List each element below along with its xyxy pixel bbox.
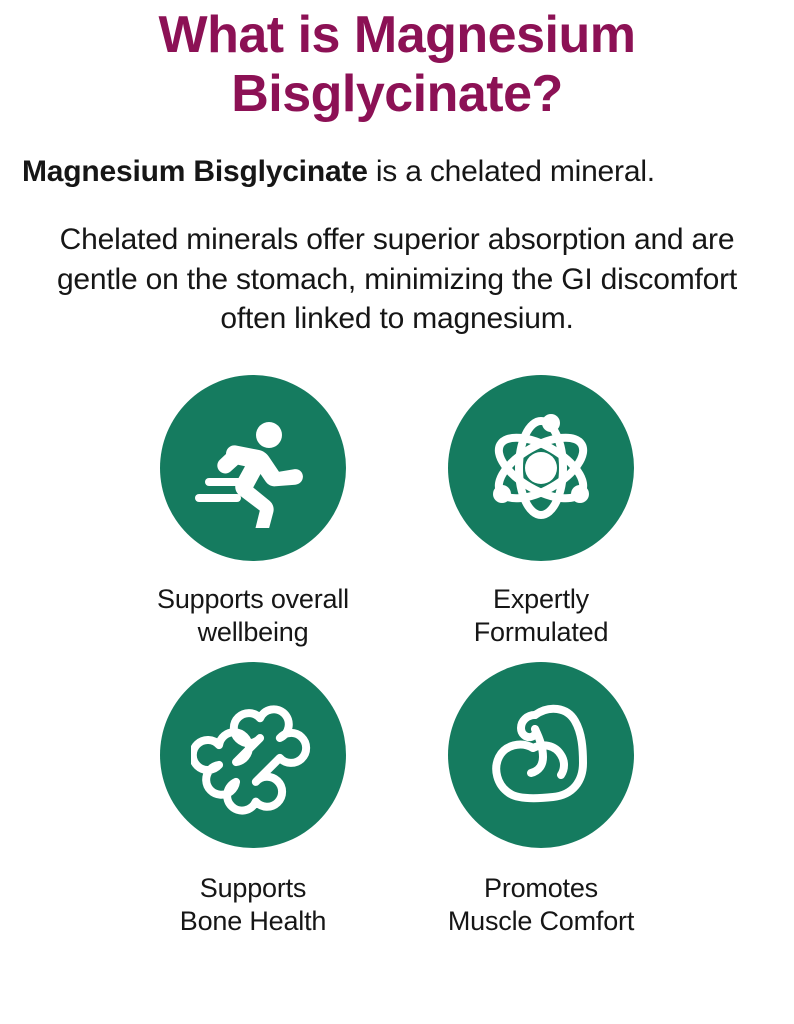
benefit-label: Supports overall wellbeing <box>157 561 349 650</box>
benefit-item-expertly-formulated: Expertly Formulated <box>407 375 675 650</box>
atom-icon <box>479 406 603 530</box>
benefit-item-supports-bone-health: Supports Bone Health <box>119 662 387 939</box>
page-title-line2: Bisglycinate? <box>231 65 563 123</box>
page-title-line1: What is Magnesium <box>159 6 636 64</box>
benefit-icon-badge <box>160 662 346 848</box>
benefit-icon-badge <box>448 375 634 561</box>
benefit-icon-badge <box>448 662 634 848</box>
product-info-page: What is MagnesiumBisglycinate? Magnesium… <box>0 0 794 1024</box>
benefit-item-supports-overall-wellbeing: Supports overall wellbeing <box>119 375 387 650</box>
benefit-label: Promotes Muscle Comfort <box>448 848 634 939</box>
running-person-icon <box>193 408 313 528</box>
description-paragraph: Chelated minerals offer superior absorpt… <box>0 190 794 339</box>
benefit-label: Supports Bone Health <box>180 848 326 939</box>
intro-sentence: Magnesium Bisglycinate is a chelated min… <box>0 124 794 191</box>
intro-bold-text: Magnesium Bisglycinate <box>22 155 368 188</box>
benefit-label: Expertly Formulated <box>474 561 609 650</box>
benefit-item-promotes-muscle-comfort: Promotes Muscle Comfort <box>407 662 675 939</box>
intro-rest-text: is a chelated mineral. <box>368 155 655 188</box>
benefit-icon-badge <box>160 375 346 561</box>
page-title: What is MagnesiumBisglycinate? <box>0 0 794 124</box>
bone-icon <box>191 693 315 817</box>
flexed-bicep-icon <box>479 693 603 817</box>
benefits-grid: Supports overall wellbeing <box>0 339 794 939</box>
